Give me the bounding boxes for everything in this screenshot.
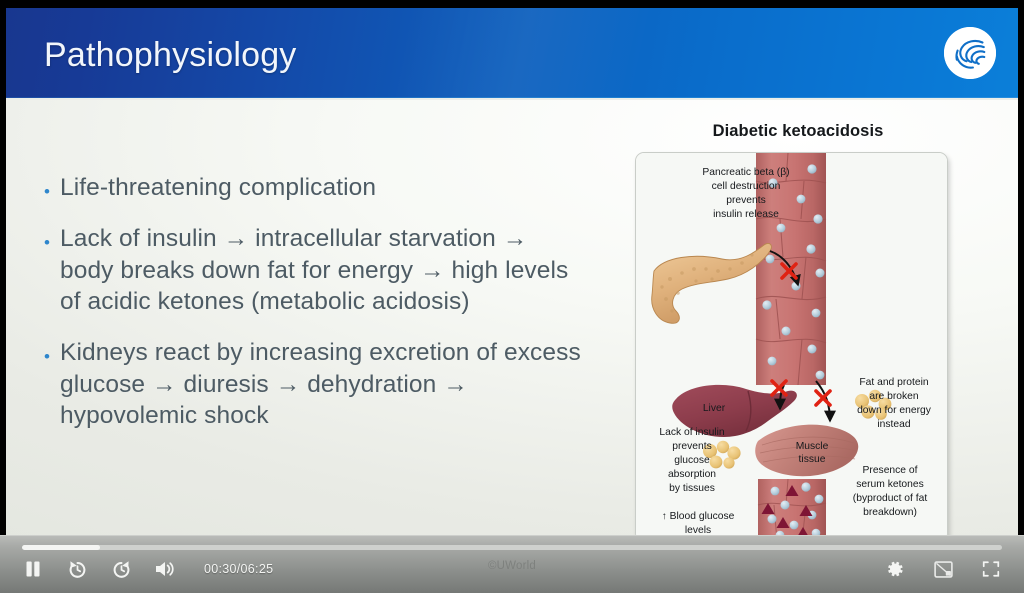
header-bottom-edge — [6, 97, 1018, 98]
liver-label: Liver — [703, 403, 726, 414]
svg-text:serum ketones: serum ketones — [856, 479, 924, 490]
pancreas-label-line: insulin release — [713, 209, 779, 220]
page-title: Pathophysiology — [44, 36, 297, 75]
uworld-swirl-logo-icon — [942, 25, 998, 81]
bullet-marker-icon: • — [44, 183, 60, 200]
bullet-text: Kidneys react by increasing excretion of… — [60, 337, 584, 431]
progress-bar-track[interactable] — [22, 545, 1002, 550]
time-display: 00:30/06:25 — [204, 562, 273, 576]
player-controls-right — [882, 556, 1004, 582]
slide-body: • Life-threatening complication • Lack o… — [6, 100, 1018, 553]
gear-icon — [885, 559, 905, 579]
svg-text:breakdown): breakdown) — [863, 507, 917, 518]
svg-text:glucose: glucose — [674, 455, 710, 466]
video-player-frame: Pathophysiology — [0, 0, 1024, 593]
fullscreen-button[interactable] — [978, 556, 1004, 582]
bullet-text: Lack of insulin → intracellular starvati… — [60, 223, 584, 317]
svg-text:↑ Blood glucose: ↑ Blood glucose — [662, 511, 735, 522]
bullet-marker-icon: • — [44, 348, 60, 365]
figure-card: Pancreatic beta (β) cell destruction pre… — [635, 152, 948, 542]
volume-button[interactable] — [152, 556, 178, 582]
speaker-on-icon — [153, 558, 177, 580]
forward-button[interactable] — [108, 556, 134, 582]
player-controls-left: 00:30/06:25 — [20, 556, 273, 582]
slide-stage: Pathophysiology — [6, 8, 1018, 553]
svg-text:Presence of: Presence of — [863, 465, 918, 476]
lower-blood-vessel — [758, 479, 826, 541]
list-item: • Lack of insulin → intracellular starva… — [44, 223, 584, 317]
list-item: • Life-threatening complication — [44, 172, 584, 203]
svg-text:Fat and protein: Fat and protein — [859, 377, 929, 388]
fullscreen-icon — [981, 559, 1001, 579]
svg-text:down for energy: down for energy — [857, 405, 932, 416]
slide-header: Pathophysiology — [6, 8, 1018, 98]
rewind-10-icon — [66, 558, 89, 581]
list-item: • Kidneys react by increasing excretion … — [44, 337, 584, 431]
svg-text:Lack of insulin: Lack of insulin — [659, 427, 725, 438]
bullet-list: • Life-threatening complication • Lack o… — [44, 172, 584, 452]
svg-text:absorption: absorption — [668, 469, 716, 480]
bullet-text: Life-threatening complication — [60, 172, 584, 203]
bullet-marker-icon: • — [44, 234, 60, 251]
video-control-bar: 00:30/06:25 ©UWorld — [0, 535, 1024, 593]
miniplayer-icon — [933, 559, 954, 580]
settings-button[interactable] — [882, 556, 908, 582]
forward-10-icon — [110, 558, 133, 581]
miniplayer-button[interactable] — [930, 556, 956, 582]
pancreas-label-line: prevents — [726, 195, 766, 206]
svg-text:(byproduct of fat: (byproduct of fat — [853, 493, 928, 504]
copyright-mark: ©UWorld — [488, 560, 536, 572]
pause-button[interactable] — [20, 556, 46, 582]
muscle-label-line: tissue — [799, 454, 826, 465]
rewind-button[interactable] — [64, 556, 90, 582]
progress-bar-fill — [22, 545, 100, 550]
svg-text:prevents: prevents — [672, 441, 712, 452]
pancreas-label-line: Pancreatic beta (β) — [702, 167, 789, 178]
pancreas-label-line: cell destruction — [712, 181, 781, 192]
svg-text:instead: instead — [877, 419, 910, 430]
svg-text:are broken: are broken — [869, 391, 919, 402]
muscle-label-line: Muscle — [796, 441, 829, 452]
pause-icon — [23, 559, 43, 579]
svg-text:by tissues: by tissues — [669, 483, 715, 494]
figure-illustration: Pancreatic beta (β) cell destruction pre… — [636, 153, 948, 542]
diabetic-ketoacidosis-figure: Diabetic ketoacidosis — [630, 122, 966, 542]
figure-title: Diabetic ketoacidosis — [630, 122, 966, 141]
